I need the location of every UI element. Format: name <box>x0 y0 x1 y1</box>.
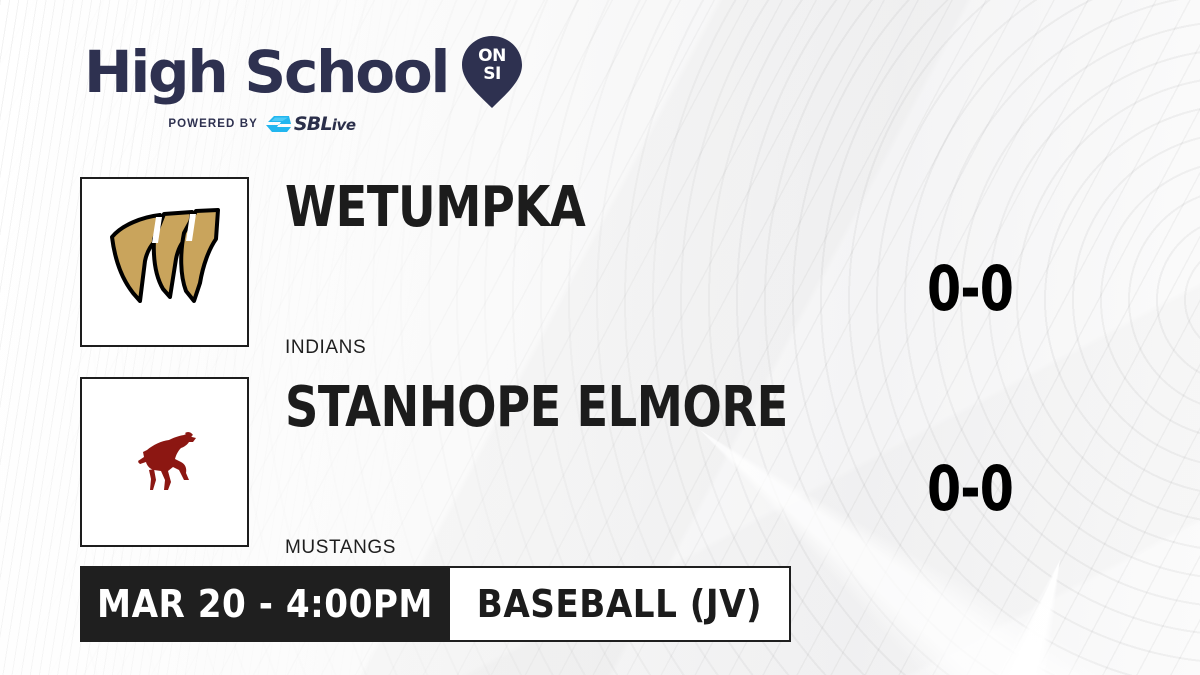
brand-lockup: High School ON SI <box>84 34 514 110</box>
team-record-home: 0-0 <box>873 258 1067 320</box>
sblive-logo: SBLive <box>265 114 356 134</box>
powered-by-label: POWERED BY <box>168 118 258 130</box>
game-info-bar: MAR 20 - 4:00PM BASEBALL (JV) <box>80 566 791 642</box>
team-mascot-away: MUSTANGS <box>285 537 396 559</box>
team-name-away: STANHOPE ELMORE <box>285 380 788 436</box>
team-logo-box-away <box>80 377 249 547</box>
brand-header: High School ON SI POWERED BY SBLive <box>84 34 514 134</box>
wetumpka-w-logo-icon <box>102 199 228 325</box>
powered-by-lockup: POWERED BY SBLive <box>84 114 514 134</box>
sblive-s-mark-icon <box>265 114 291 134</box>
game-datetime: MAR 20 - 4:00PM <box>80 566 450 642</box>
pin-label-on: ON <box>478 46 506 66</box>
team-record-away: 0-0 <box>873 458 1067 520</box>
sblive-wordmark: SBLive <box>294 115 356 134</box>
team-mascot-home: INDIANS <box>285 337 366 359</box>
sblive-wordmark-sbl: SBL <box>294 113 332 135</box>
stanhope-elmore-mustang-logo-icon <box>127 424 203 500</box>
matchup-graphic: High School ON SI POWERED BY SBLive <box>0 0 1200 675</box>
brand-wordmark: High School <box>84 43 448 101</box>
pin-label-si: SI <box>483 64 501 84</box>
location-pin-icon: ON SI <box>460 34 524 110</box>
team-name-home: WETUMPKA <box>285 180 585 236</box>
game-sport: BASEBALL (JV) <box>450 566 791 642</box>
team-logo-box-home <box>80 177 249 347</box>
sblive-wordmark-ive: ive <box>332 116 356 134</box>
